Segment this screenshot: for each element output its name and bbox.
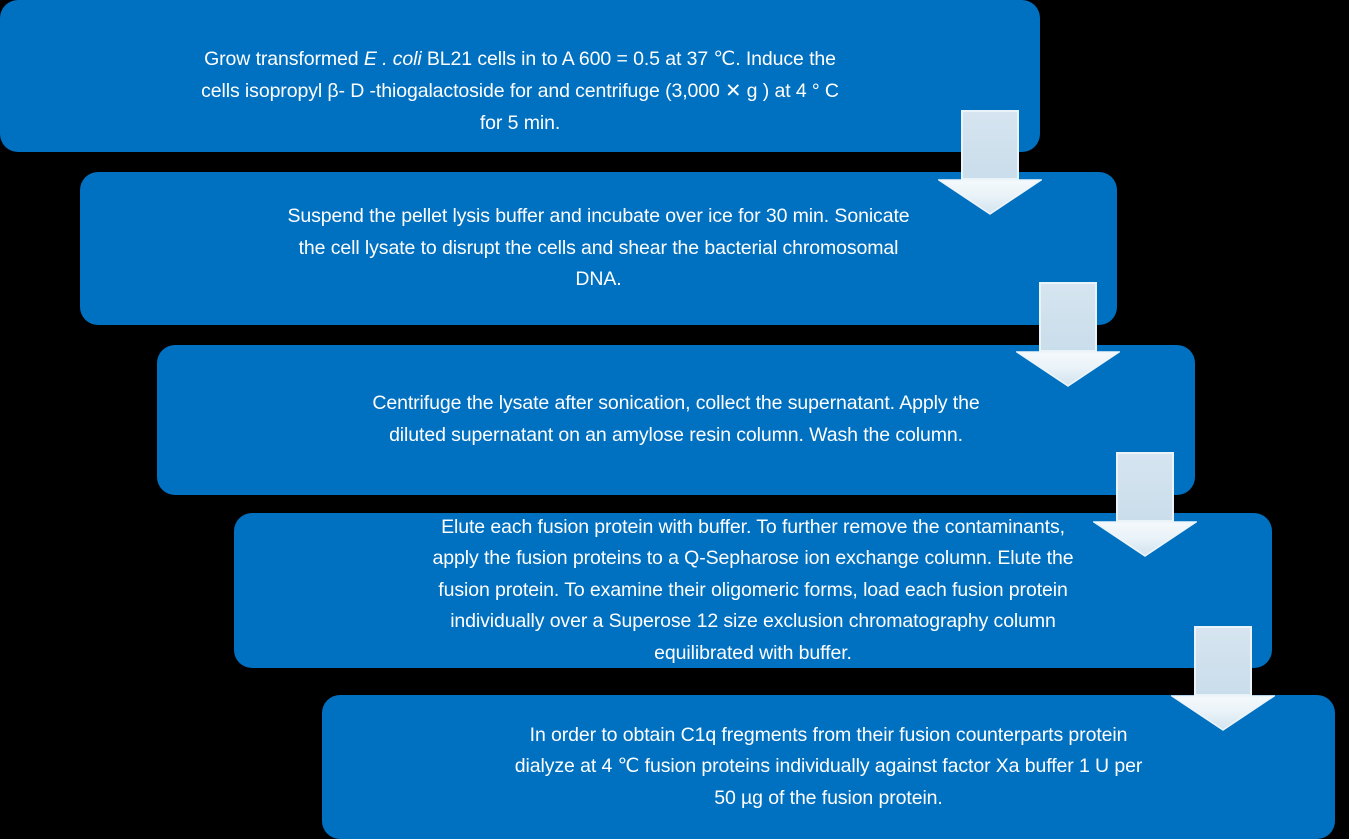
- flow-step-text-3: Centrifuge the lysate after sonication, …: [173, 388, 1179, 451]
- flow-step-box-1[interactable]: Grow transformed E . coli BL21 cells in …: [0, 0, 1040, 152]
- flow-step-text-1: Grow transformed E . coli BL21 cells in …: [16, 13, 1024, 139]
- flow-step-text-2: Suspend the pellet lysis buffer and incu…: [96, 201, 1101, 296]
- arrow-2-down-icon: [1016, 282, 1120, 387]
- flowchart-canvas: Grow transformed E . coli BL21 cells in …: [0, 0, 1349, 839]
- arrow-3-down-icon: [1093, 452, 1197, 557]
- arrow-4-down-icon: [1171, 626, 1275, 731]
- flow-step-text-5: In order to obtain C1q fregments from th…: [338, 720, 1319, 815]
- arrow-1-down-icon: [938, 110, 1042, 215]
